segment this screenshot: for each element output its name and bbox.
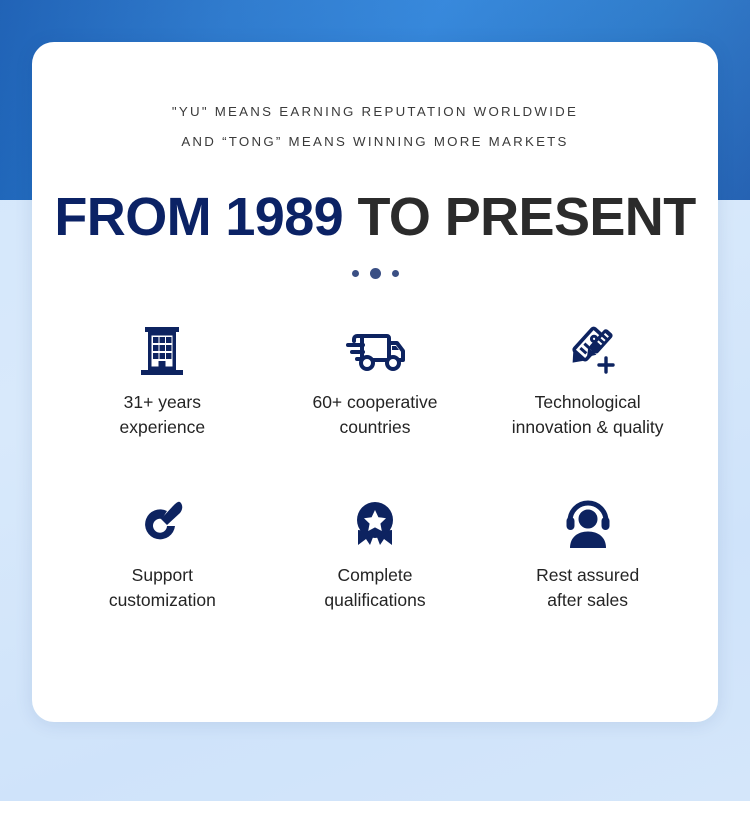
- feature-item-complete-qualifications: Complete qualifications: [269, 495, 482, 612]
- headset-support-icon: [562, 495, 614, 553]
- feature-label-line-1: Rest assured: [536, 565, 639, 585]
- feature-item-support-customization: Support customization: [56, 495, 269, 612]
- customization-tool-icon: [136, 495, 188, 553]
- delivery-truck-icon: [344, 322, 406, 380]
- page-title-highlight: FROM 1989: [54, 187, 343, 247]
- feature-label-line-2: innovation & quality: [512, 417, 664, 437]
- feature-label: 60+ cooperative countries: [312, 390, 437, 439]
- feature-label-line-1: Complete: [338, 565, 413, 585]
- divider-dot-small-left: [352, 270, 359, 277]
- feature-label-line-1: 31+ years: [124, 392, 201, 412]
- feature-item-technological-innovation: Technological innovation & quality: [481, 322, 694, 439]
- subtitle-line-2: AND “TONG” MEANS WINNING MORE MARKETS: [32, 127, 718, 157]
- divider-dot-large-center: [370, 268, 381, 279]
- feature-label-line-2: customization: [109, 590, 216, 610]
- feature-item-years-experience: 31+ years experience: [56, 322, 269, 439]
- feature-label-line-1: Support: [132, 565, 193, 585]
- feature-item-cooperative-countries: 60+ cooperative countries: [269, 322, 482, 439]
- subtitle: "YU" MEANS EARNING REPUTATION WORLDWIDE …: [32, 97, 718, 157]
- feature-label-line-1: 60+ cooperative: [312, 392, 437, 412]
- award-badge-icon: [349, 495, 401, 553]
- feature-item-rest-assured-after-sales: Rest assured after sales: [481, 495, 694, 612]
- page-title: FROM 1989 TO PRESENT: [32, 184, 718, 250]
- feature-label: Technological innovation & quality: [512, 390, 664, 439]
- feature-label: 31+ years experience: [120, 390, 206, 439]
- divider-dot-small-right: [392, 270, 399, 277]
- feature-label: Support customization: [109, 563, 216, 612]
- pencil-ruler-plus-icon: [560, 322, 616, 380]
- promo-banner: "YU" MEANS EARNING REPUTATION WORLDWIDE …: [0, 0, 750, 818]
- feature-label-line-1: Technological: [535, 392, 641, 412]
- feature-grid: 31+ years experience: [56, 322, 694, 612]
- office-building-icon: [136, 322, 188, 380]
- feature-label-line-2: countries: [339, 417, 410, 437]
- divider-dots: [32, 268, 718, 279]
- feature-label: Rest assured after sales: [536, 563, 639, 612]
- feature-label: Complete qualifications: [324, 563, 425, 612]
- feature-label-line-2: experience: [120, 417, 206, 437]
- subtitle-line-1: "YU" MEANS EARNING REPUTATION WORLDWIDE: [32, 97, 718, 127]
- feature-label-line-2: after sales: [547, 590, 628, 610]
- feature-label-line-2: qualifications: [324, 590, 425, 610]
- page-title-rest: TO PRESENT: [343, 187, 695, 247]
- content-card: "YU" MEANS EARNING REPUTATION WORLDWIDE …: [32, 42, 718, 722]
